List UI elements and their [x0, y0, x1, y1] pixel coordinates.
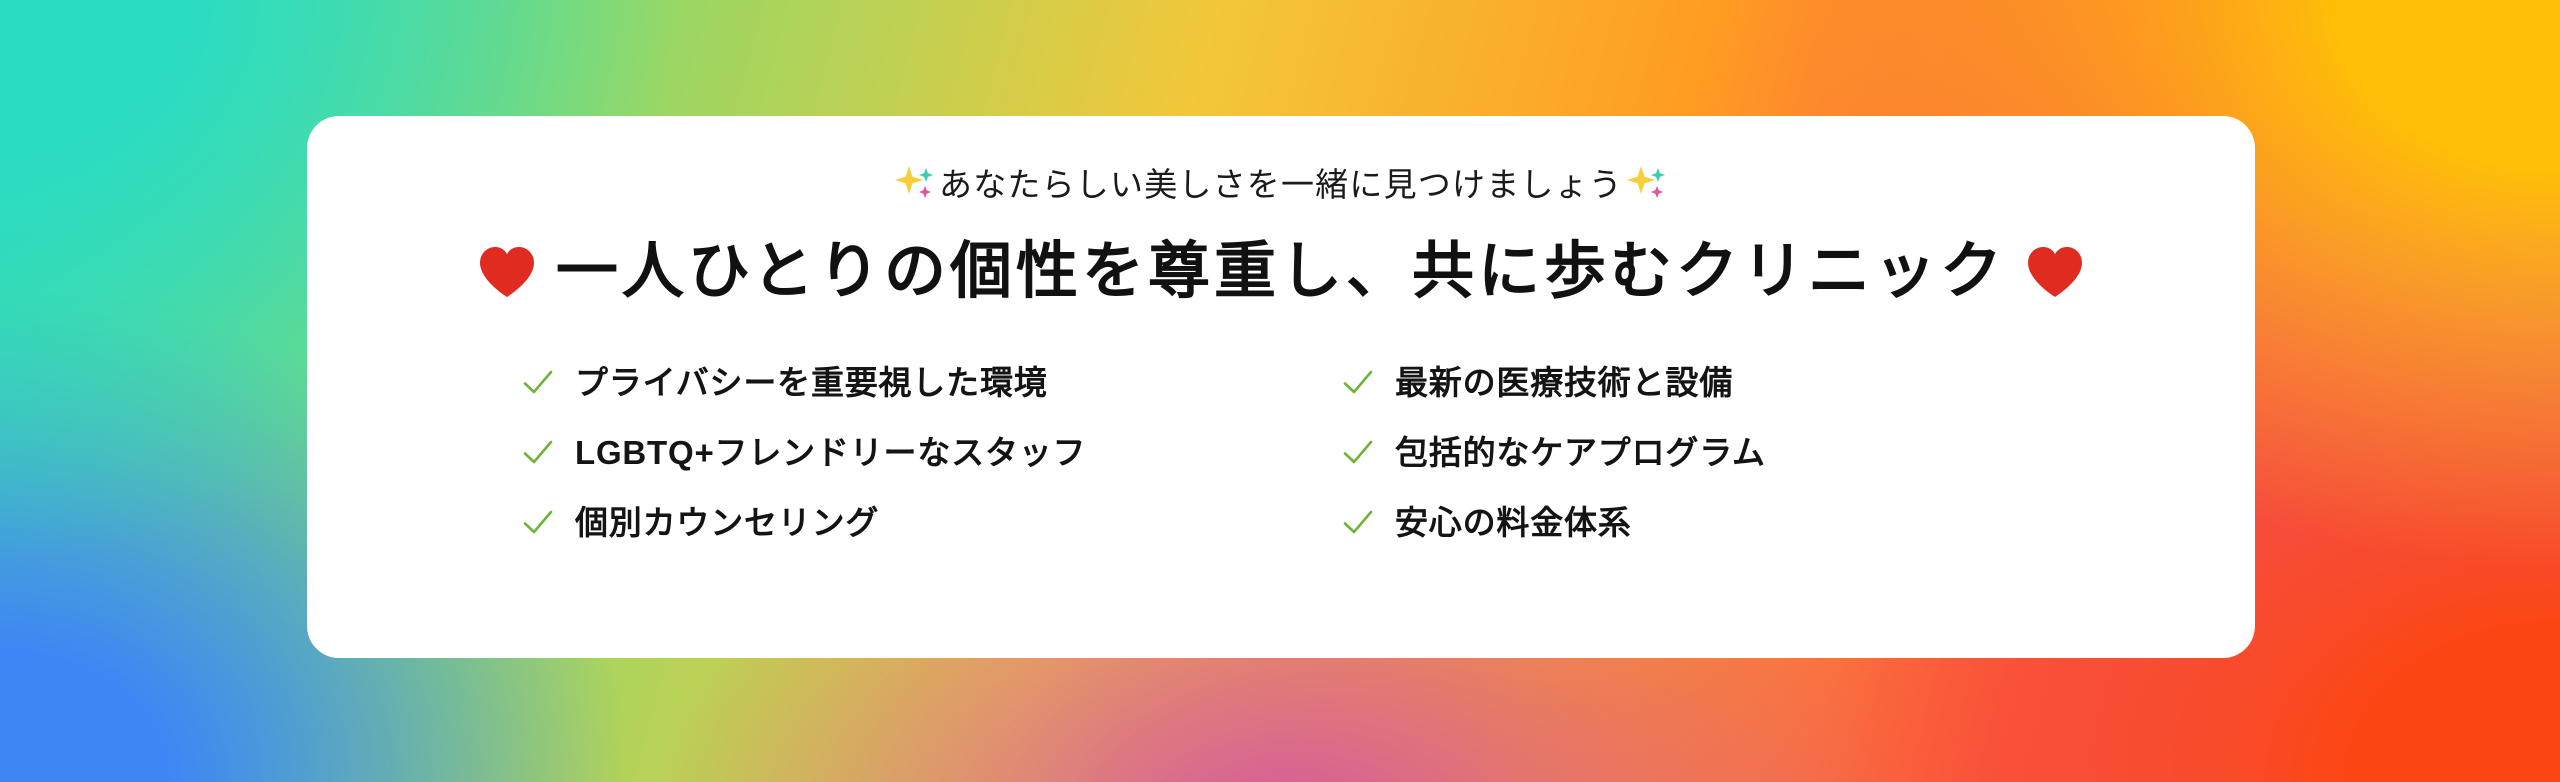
check-icon — [521, 365, 555, 399]
check-icon — [521, 435, 555, 469]
check-icon — [1341, 435, 1375, 469]
feature-item: 包括的なケアプログラム — [1341, 424, 2041, 480]
sparkles-icon — [1625, 162, 1669, 206]
feature-label: LGBTQ+フレンドリーなスタッフ — [575, 436, 1086, 469]
feature-item: LGBTQ+フレンドリーなスタッフ — [521, 424, 1221, 480]
sparkles-icon — [893, 162, 937, 206]
hero-heading: 一人ひとりの個性を尊重し、共に歩むクリニック — [556, 241, 2006, 303]
check-icon — [1341, 365, 1375, 399]
subtitle-row: あなたらしい美しさを一緒に見つけましょう — [893, 158, 1669, 210]
heading-row: 一人ひとりの個性を尊重し、共に歩むクリニック — [476, 224, 2086, 320]
check-icon — [521, 505, 555, 539]
feature-label: プライバシーを重要視した環境 — [575, 366, 1048, 399]
heart-icon — [476, 241, 538, 303]
feature-item: プライバシーを重要視した環境 — [521, 354, 1221, 410]
check-icon — [1341, 505, 1375, 539]
hero-card: あなたらしい美しさを一緒に見つけましょう 一人ひとりの個性を尊重し、共に歩むクリ… — [307, 116, 2255, 658]
hero-subtitle: あなたらしい美しさを一緒に見つけましょう — [939, 168, 1623, 201]
feature-label: 包括的なケアプログラム — [1395, 436, 1766, 469]
feature-label: 安心の料金体系 — [1395, 506, 1632, 539]
heart-icon — [2024, 241, 2086, 303]
hero-banner: あなたらしい美しさを一緒に見つけましょう 一人ひとりの個性を尊重し、共に歩むクリ… — [0, 0, 2560, 782]
feature-label: 個別カウンセリング — [575, 506, 879, 539]
feature-item: 安心の料金体系 — [1341, 494, 2041, 550]
feature-item: 最新の医療技術と設備 — [1341, 354, 2041, 410]
feature-item: 個別カウンセリング — [521, 494, 1221, 550]
feature-list: プライバシーを重要視した環境 最新の医療技術と設備 LGBTQ+フレンドリーなス… — [521, 354, 2041, 550]
feature-label: 最新の医療技術と設備 — [1395, 366, 1733, 399]
